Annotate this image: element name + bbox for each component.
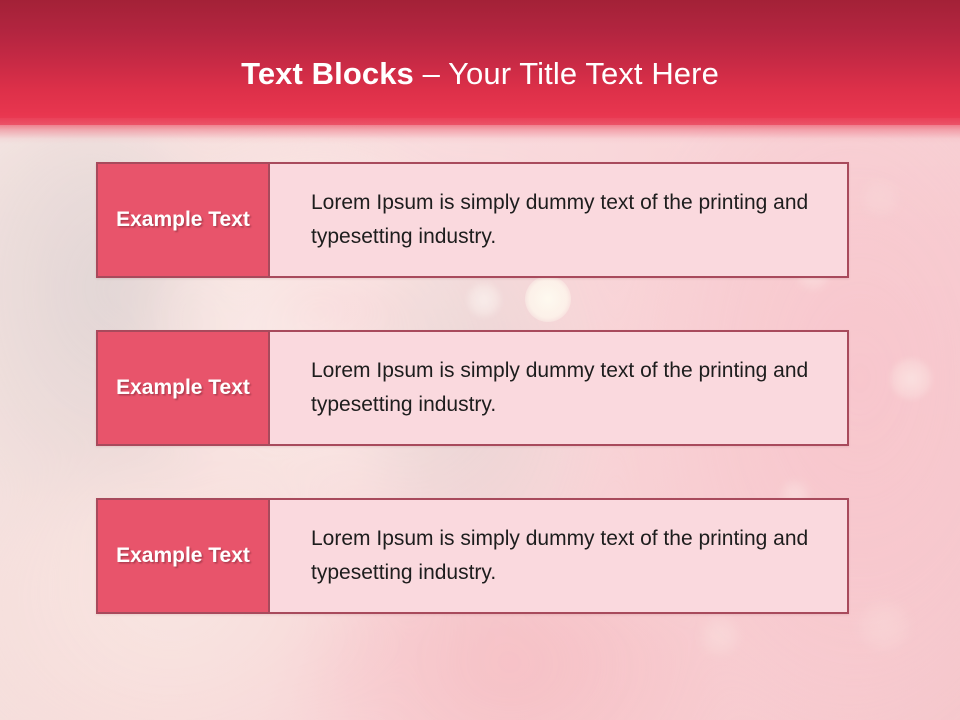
bokeh-circle — [700, 616, 740, 656]
block-label-text: Example Text — [116, 373, 250, 403]
block-body-box[interactable]: Lorem Ipsum is simply dummy text of the … — [270, 164, 847, 276]
block-body-text: Lorem Ipsum is simply dummy text of the … — [311, 522, 811, 590]
block-body-text: Lorem Ipsum is simply dummy text of the … — [311, 354, 811, 422]
text-block[interactable]: Example Text Lorem Ipsum is simply dummy… — [96, 330, 849, 446]
slide-canvas: Text Blocks – Your Title Text Here Examp… — [0, 0, 960, 720]
text-block[interactable]: Example Text Lorem Ipsum is simply dummy… — [96, 498, 849, 614]
bokeh-circle — [890, 358, 932, 400]
block-label-box[interactable]: Example Text — [98, 332, 270, 444]
block-label-box[interactable]: Example Text — [98, 164, 270, 276]
slide-title-rest: – Your Title Text Here — [414, 56, 719, 91]
block-body-box[interactable]: Lorem Ipsum is simply dummy text of the … — [270, 500, 847, 612]
block-label-text: Example Text — [116, 541, 250, 571]
photo-teeth-shape — [300, 276, 390, 302]
block-label-box[interactable]: Example Text — [98, 500, 270, 612]
slide-title-strong: Text Blocks — [241, 56, 414, 91]
bokeh-circle — [525, 276, 571, 322]
block-body-box[interactable]: Lorem Ipsum is simply dummy text of the … — [270, 332, 847, 444]
bokeh-circle — [858, 600, 910, 652]
text-block[interactable]: Example Text Lorem Ipsum is simply dummy… — [96, 162, 849, 278]
block-label-text: Example Text — [116, 205, 250, 235]
bokeh-circle — [467, 283, 501, 317]
photo-lips-shape — [268, 272, 418, 332]
block-body-text: Lorem Ipsum is simply dummy text of the … — [311, 186, 811, 254]
bokeh-circle — [860, 178, 900, 218]
slide-title: Text Blocks – Your Title Text Here — [0, 54, 960, 94]
